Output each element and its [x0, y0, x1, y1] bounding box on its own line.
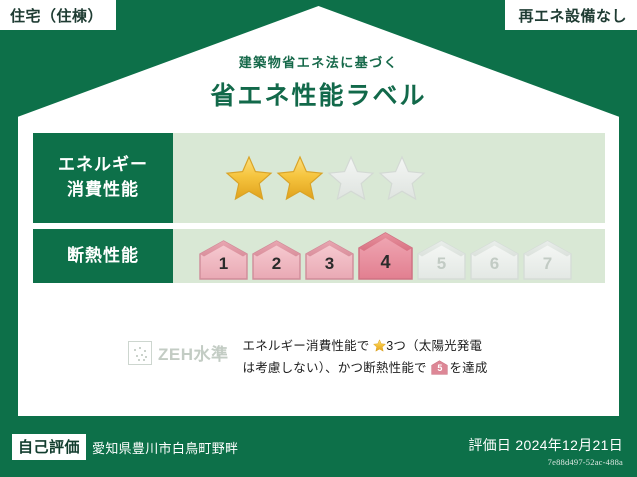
grade-house-2-number: 2	[251, 254, 302, 274]
ratings-area: エネルギー 消費性能	[33, 133, 605, 289]
grade-house-5-number: 5	[416, 254, 467, 274]
evaluation-id: 7e88d497-52ac-488a	[468, 457, 623, 467]
renewable-equipment-tag-label: 再エネ設備なし	[518, 5, 627, 26]
grade-house-7-number: 7	[522, 254, 573, 274]
footer-right: 評価日 2024年12月21日 7e88d497-52ac-488a	[468, 435, 623, 467]
grade-house-6-number: 6	[469, 254, 520, 274]
energy-performance-label: 住宅（住棟） 再エネ設備なし 建築物省エネ法に基づく 省エネ性能ラベル エネルギ…	[0, 0, 637, 477]
zeh-description: エネルギー消費性能で 3つ（太陽光発電 は考慮しない）、かつ断熱性能で 5 を達…	[243, 336, 488, 380]
footer: 自己評価 愛知県豊川市白鳥町野畔 評価日 2024年12月21日 7e88d49…	[0, 417, 637, 477]
energy-performance-row: エネルギー 消費性能	[33, 133, 605, 223]
star-icon-empty	[378, 155, 426, 201]
zeh-line1-prefix: エネルギー消費性能で	[243, 339, 370, 353]
title-subtitle: 建築物省エネ法に基づく	[0, 52, 637, 71]
house-icon-inline: 5	[431, 360, 448, 375]
insulation-performance-grades: 1 2 3	[173, 229, 605, 283]
zeh-mark-icon	[128, 341, 152, 365]
footer-left: 自己評価 愛知県豊川市白鳥町野畔	[12, 434, 238, 460]
title-main: 省エネ性能ラベル	[0, 76, 637, 112]
grade-house-5: 5	[416, 239, 467, 281]
grade-house-3-number: 3	[304, 254, 355, 274]
grade-house-3: 3	[304, 239, 355, 281]
zeh-line1-suffix: 3つ（太陽光発電	[386, 339, 482, 353]
zeh-description-line2: は考慮しない）、かつ断熱性能で 5 を達成	[243, 358, 488, 380]
grade-house-1-number: 1	[198, 254, 249, 274]
grade-house-list: 1 2 3	[198, 231, 575, 281]
evaluation-date: 評価日 2024年12月21日	[468, 435, 623, 455]
grade-house-4-number: 4	[357, 252, 414, 273]
star-icon	[276, 155, 324, 201]
zeh-line2-grade: 5	[431, 361, 448, 375]
energy-performance-label-line2: 消費性能	[67, 178, 139, 203]
energy-performance-stars	[173, 133, 605, 223]
grade-house-2: 2	[251, 239, 302, 281]
energy-performance-label-line1: エネルギー	[58, 153, 148, 178]
insulation-performance-row: 断熱性能	[33, 229, 605, 283]
zeh-badge-label: ZEH水準	[158, 340, 229, 365]
star-icon-inline	[373, 338, 386, 351]
property-address: 愛知県豊川市白鳥町野畔	[92, 438, 238, 457]
energy-performance-label: エネルギー 消費性能	[33, 133, 173, 223]
grade-house-4-achieved: 4	[357, 231, 414, 281]
grade-house-6: 6	[469, 239, 520, 281]
grade-house-7: 7	[522, 239, 573, 281]
zeh-note: ZEH水準 エネルギー消費性能で 3つ（太陽光発電 は考慮しない）、かつ断熱性能…	[128, 336, 488, 380]
star-icon	[225, 155, 273, 201]
zeh-line2-suffix: を達成	[449, 361, 487, 375]
page-title: 建築物省エネ法に基づく 省エネ性能ラベル	[0, 52, 637, 112]
evaluation-type-badge: 自己評価	[12, 434, 86, 460]
building-type-tag: 住宅（住棟）	[0, 0, 116, 30]
insulation-performance-label-line1: 断熱性能	[67, 244, 139, 269]
zeh-description-line1: エネルギー消費性能で 3つ（太陽光発電	[243, 336, 488, 358]
building-type-tag-label: 住宅（住棟）	[10, 5, 103, 26]
zeh-badge: ZEH水準	[128, 336, 229, 365]
renewable-equipment-tag: 再エネ設備なし	[505, 0, 637, 30]
star-icon-empty	[327, 155, 375, 201]
grade-house-1: 1	[198, 239, 249, 281]
insulation-performance-label: 断熱性能	[33, 229, 173, 283]
zeh-line2-prefix: は考慮しない）、かつ断熱性能で	[243, 361, 427, 375]
